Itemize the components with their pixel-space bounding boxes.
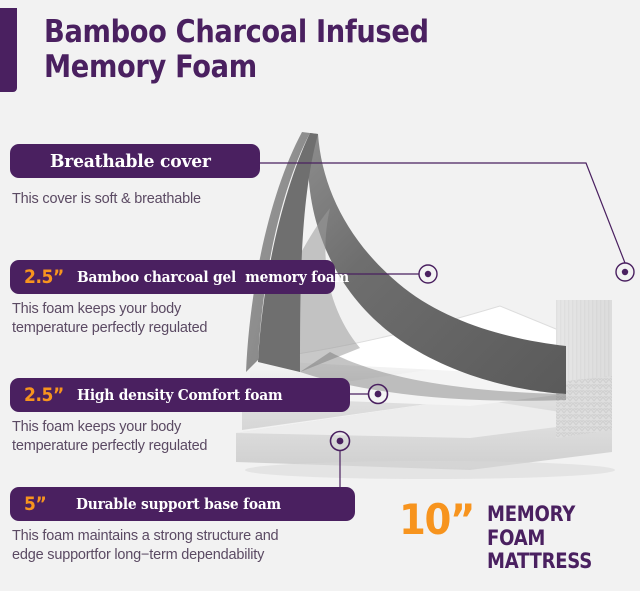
layer-badge-label: Bamboo charcoal gel memory foam [77, 269, 349, 286]
layer-description-comfort-foam: This foam keeps your body temperature pe… [12, 418, 312, 455]
layer-badge-base-foam[interactable]: 5” Durable support base foam [10, 487, 355, 521]
layer-thickness-value: 5” [24, 493, 46, 515]
page-title: Bamboo Charcoal Infused Memory Foam [44, 15, 502, 85]
leader-line-cover [260, 163, 625, 263]
footer-product-headline: 10” MEMORY FOAM MATTRESS [399, 500, 640, 574]
layer-description-breathable-cover: This cover is soft & breathable [12, 190, 312, 209]
layer-badge-label: Durable support base foam [76, 496, 281, 513]
layer-marker-comfort-foam [369, 385, 388, 404]
layer-badge-label: Breathable cover [50, 151, 211, 172]
mattress-shadow [245, 461, 615, 479]
layer-thickness-value: 2.5” [24, 266, 64, 288]
layer-thickness-value: 2.5” [24, 384, 64, 406]
footer-product-name: MEMORY FOAM MATTRESS [487, 500, 619, 574]
layer-markers [331, 263, 635, 451]
layer-description-base-foam: This foam maintains a strong structure a… [12, 527, 352, 564]
footer-size-value: 10” [399, 500, 474, 540]
layer-badge-gel-memory-foam[interactable]: 2.5” Bamboo charcoal gel memory foam [10, 260, 335, 294]
mattress-infographic: Bamboo Charcoal Infused Memory Foam [0, 0, 640, 591]
knit-cover-panel [556, 300, 612, 438]
layer-marker-cover [616, 263, 634, 281]
layer-badge-label: High density Comfort foam [77, 387, 282, 404]
layer-badge-breathable-cover[interactable]: Breathable cover [10, 144, 260, 178]
title-accent-bar [0, 8, 17, 92]
layer-description-gel-memory-foam: This foam keeps your body temperature pe… [12, 300, 312, 337]
layer-badge-comfort-foam[interactable]: 2.5” High density Comfort foam [10, 378, 350, 412]
layer-marker-base-foam [331, 432, 350, 451]
layer-marker-gel-foam [419, 265, 437, 283]
leader-lines [260, 163, 625, 487]
